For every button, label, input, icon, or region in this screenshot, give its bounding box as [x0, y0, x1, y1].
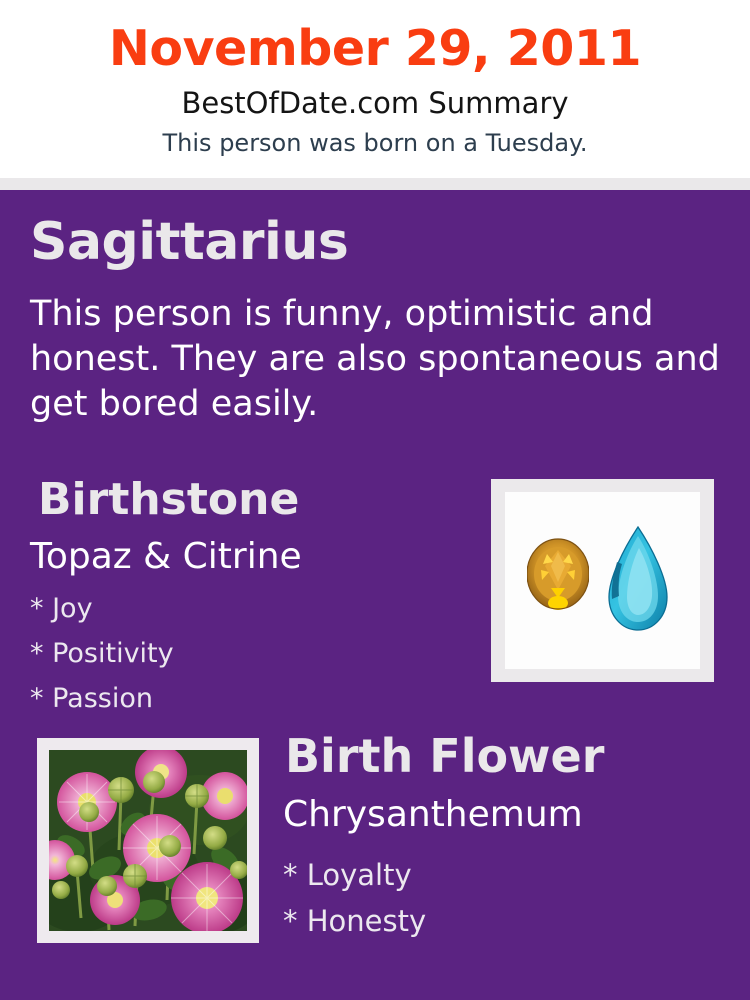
zodiac-sign-title: Sagittarius [30, 215, 348, 270]
page-title: November 29, 2011 [0, 22, 750, 76]
birthflower-heading: Birth Flower [285, 732, 604, 780]
birthflower-image [49, 750, 247, 931]
list-item: * Positivity [30, 631, 450, 676]
birthstone-image-frame [491, 479, 714, 682]
list-item: * Joy [30, 586, 450, 631]
summary-page: November 29, 2011 BestOfDate.com Summary… [0, 0, 750, 1000]
birthflower-image-frame [37, 738, 259, 943]
site-summary-subtitle: BestOfDate.com Summary [0, 87, 750, 120]
content-panel: Sagittarius This person is funny, optimi… [0, 190, 750, 1000]
list-item: * Passion [30, 676, 450, 721]
birthstone-image [505, 492, 700, 669]
born-weekday-text: This person was born on a Tuesday. [0, 129, 750, 158]
topaz-gem-icon [608, 526, 668, 631]
birthflower-trait-list: * Loyalty * Honesty [283, 853, 703, 945]
chrysanthemum-photo-icon [49, 750, 247, 931]
page-header: November 29, 2011 BestOfDate.com Summary… [0, 0, 750, 180]
citrine-gem-icon [527, 538, 589, 611]
list-item: * Honesty [283, 899, 703, 945]
list-item: * Loyalty [283, 853, 703, 899]
birthstone-trait-list: * Joy * Positivity * Passion [30, 586, 450, 721]
birthstone-heading: Birthstone [38, 477, 299, 523]
zodiac-description: This person is funny, optimistic and hon… [30, 292, 730, 426]
birthstone-name: Topaz & Citrine [30, 537, 302, 577]
birthflower-name: Chrysanthemum [283, 795, 583, 835]
header-divider [0, 178, 750, 190]
